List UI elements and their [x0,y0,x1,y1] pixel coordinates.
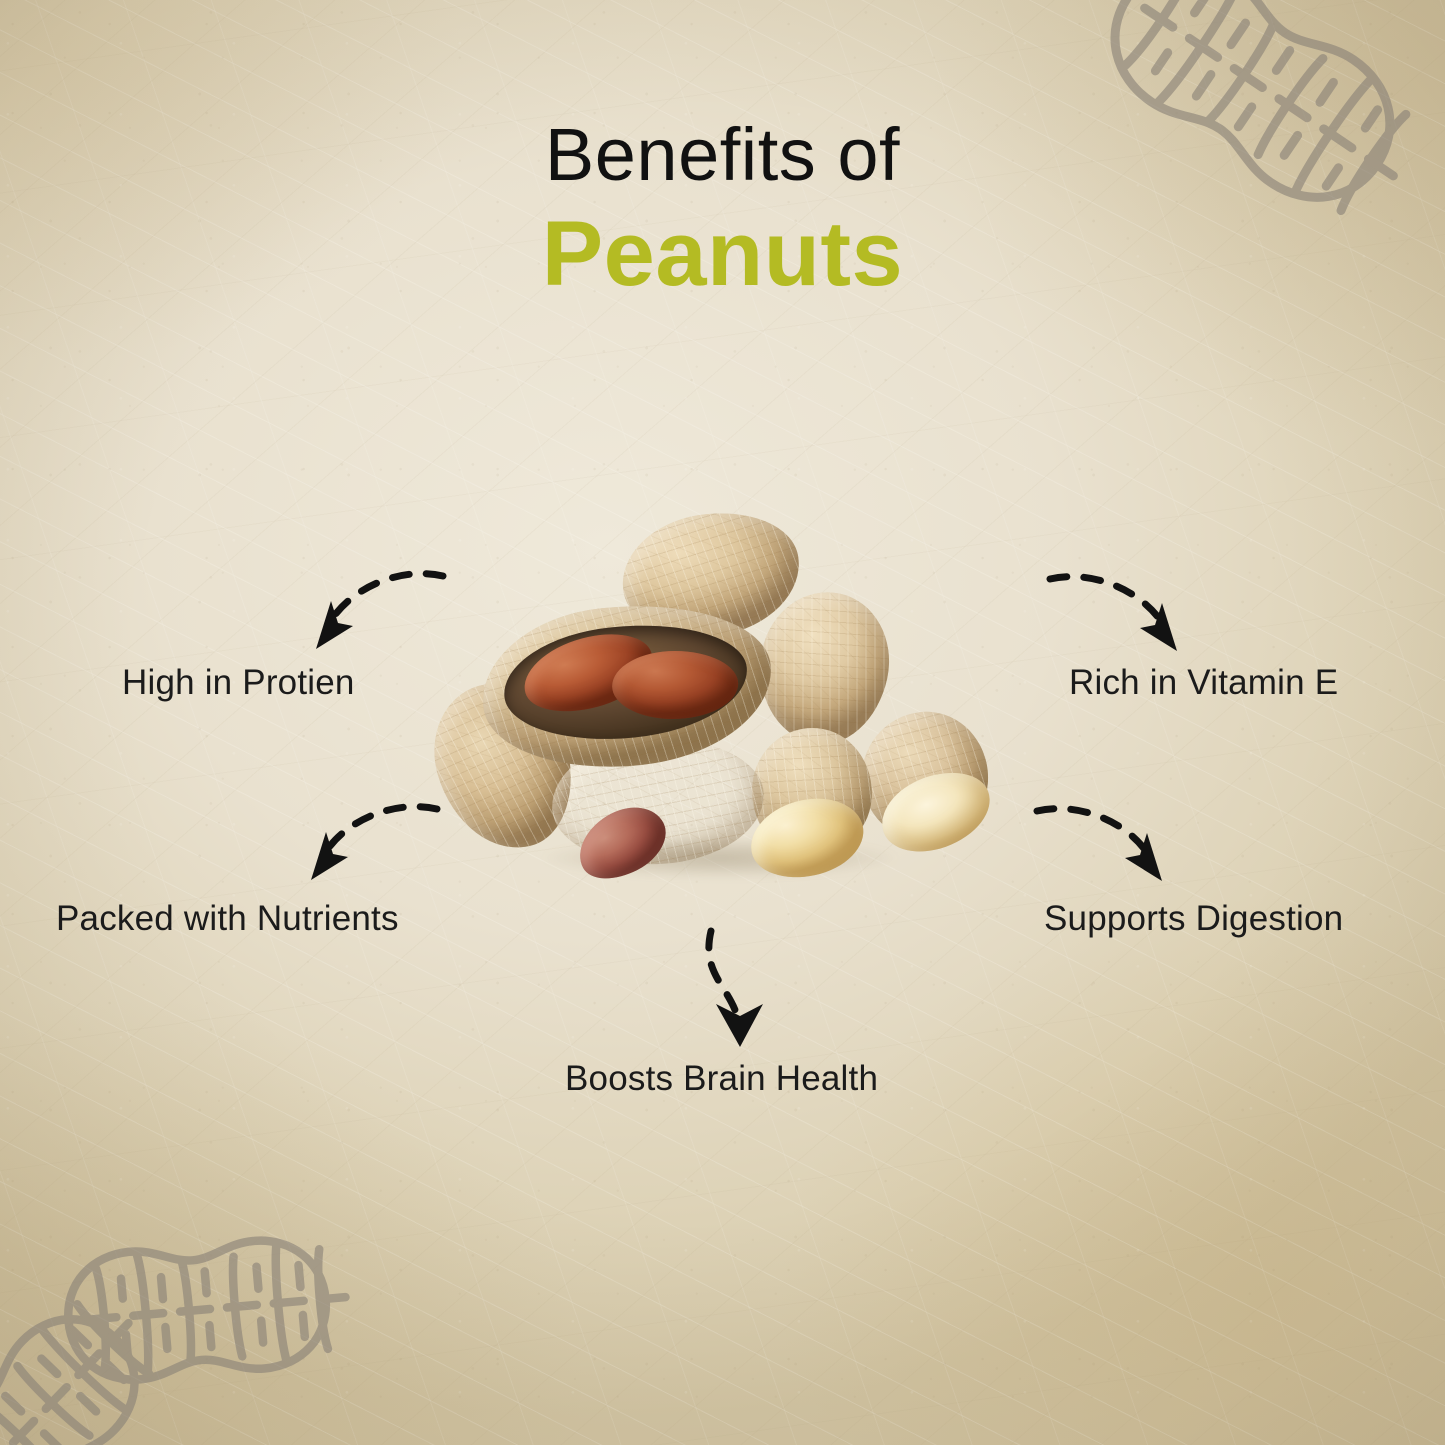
benefit-label-rich-vitamin-e: Rich in Vitamin E [1069,663,1338,703]
peanut-pile-photo [430,500,1010,900]
page-title: Benefits of Peanuts [0,118,1445,300]
cracked-shell-group [474,591,779,780]
title-line-2: Peanuts [0,208,1445,300]
benefit-label-boosts-brain: Boosts Brain Health [565,1059,878,1099]
benefit-label-high-in-protein: High in Protien [122,663,355,703]
benefit-label-packed-nutrients: Packed with Nutrients [56,899,399,939]
benefit-label-supports-digestion: Supports Digestion [1044,899,1343,939]
title-line-1: Benefits of [0,118,1445,192]
infographic-poster: Benefits of Peanuts [0,0,1445,1445]
